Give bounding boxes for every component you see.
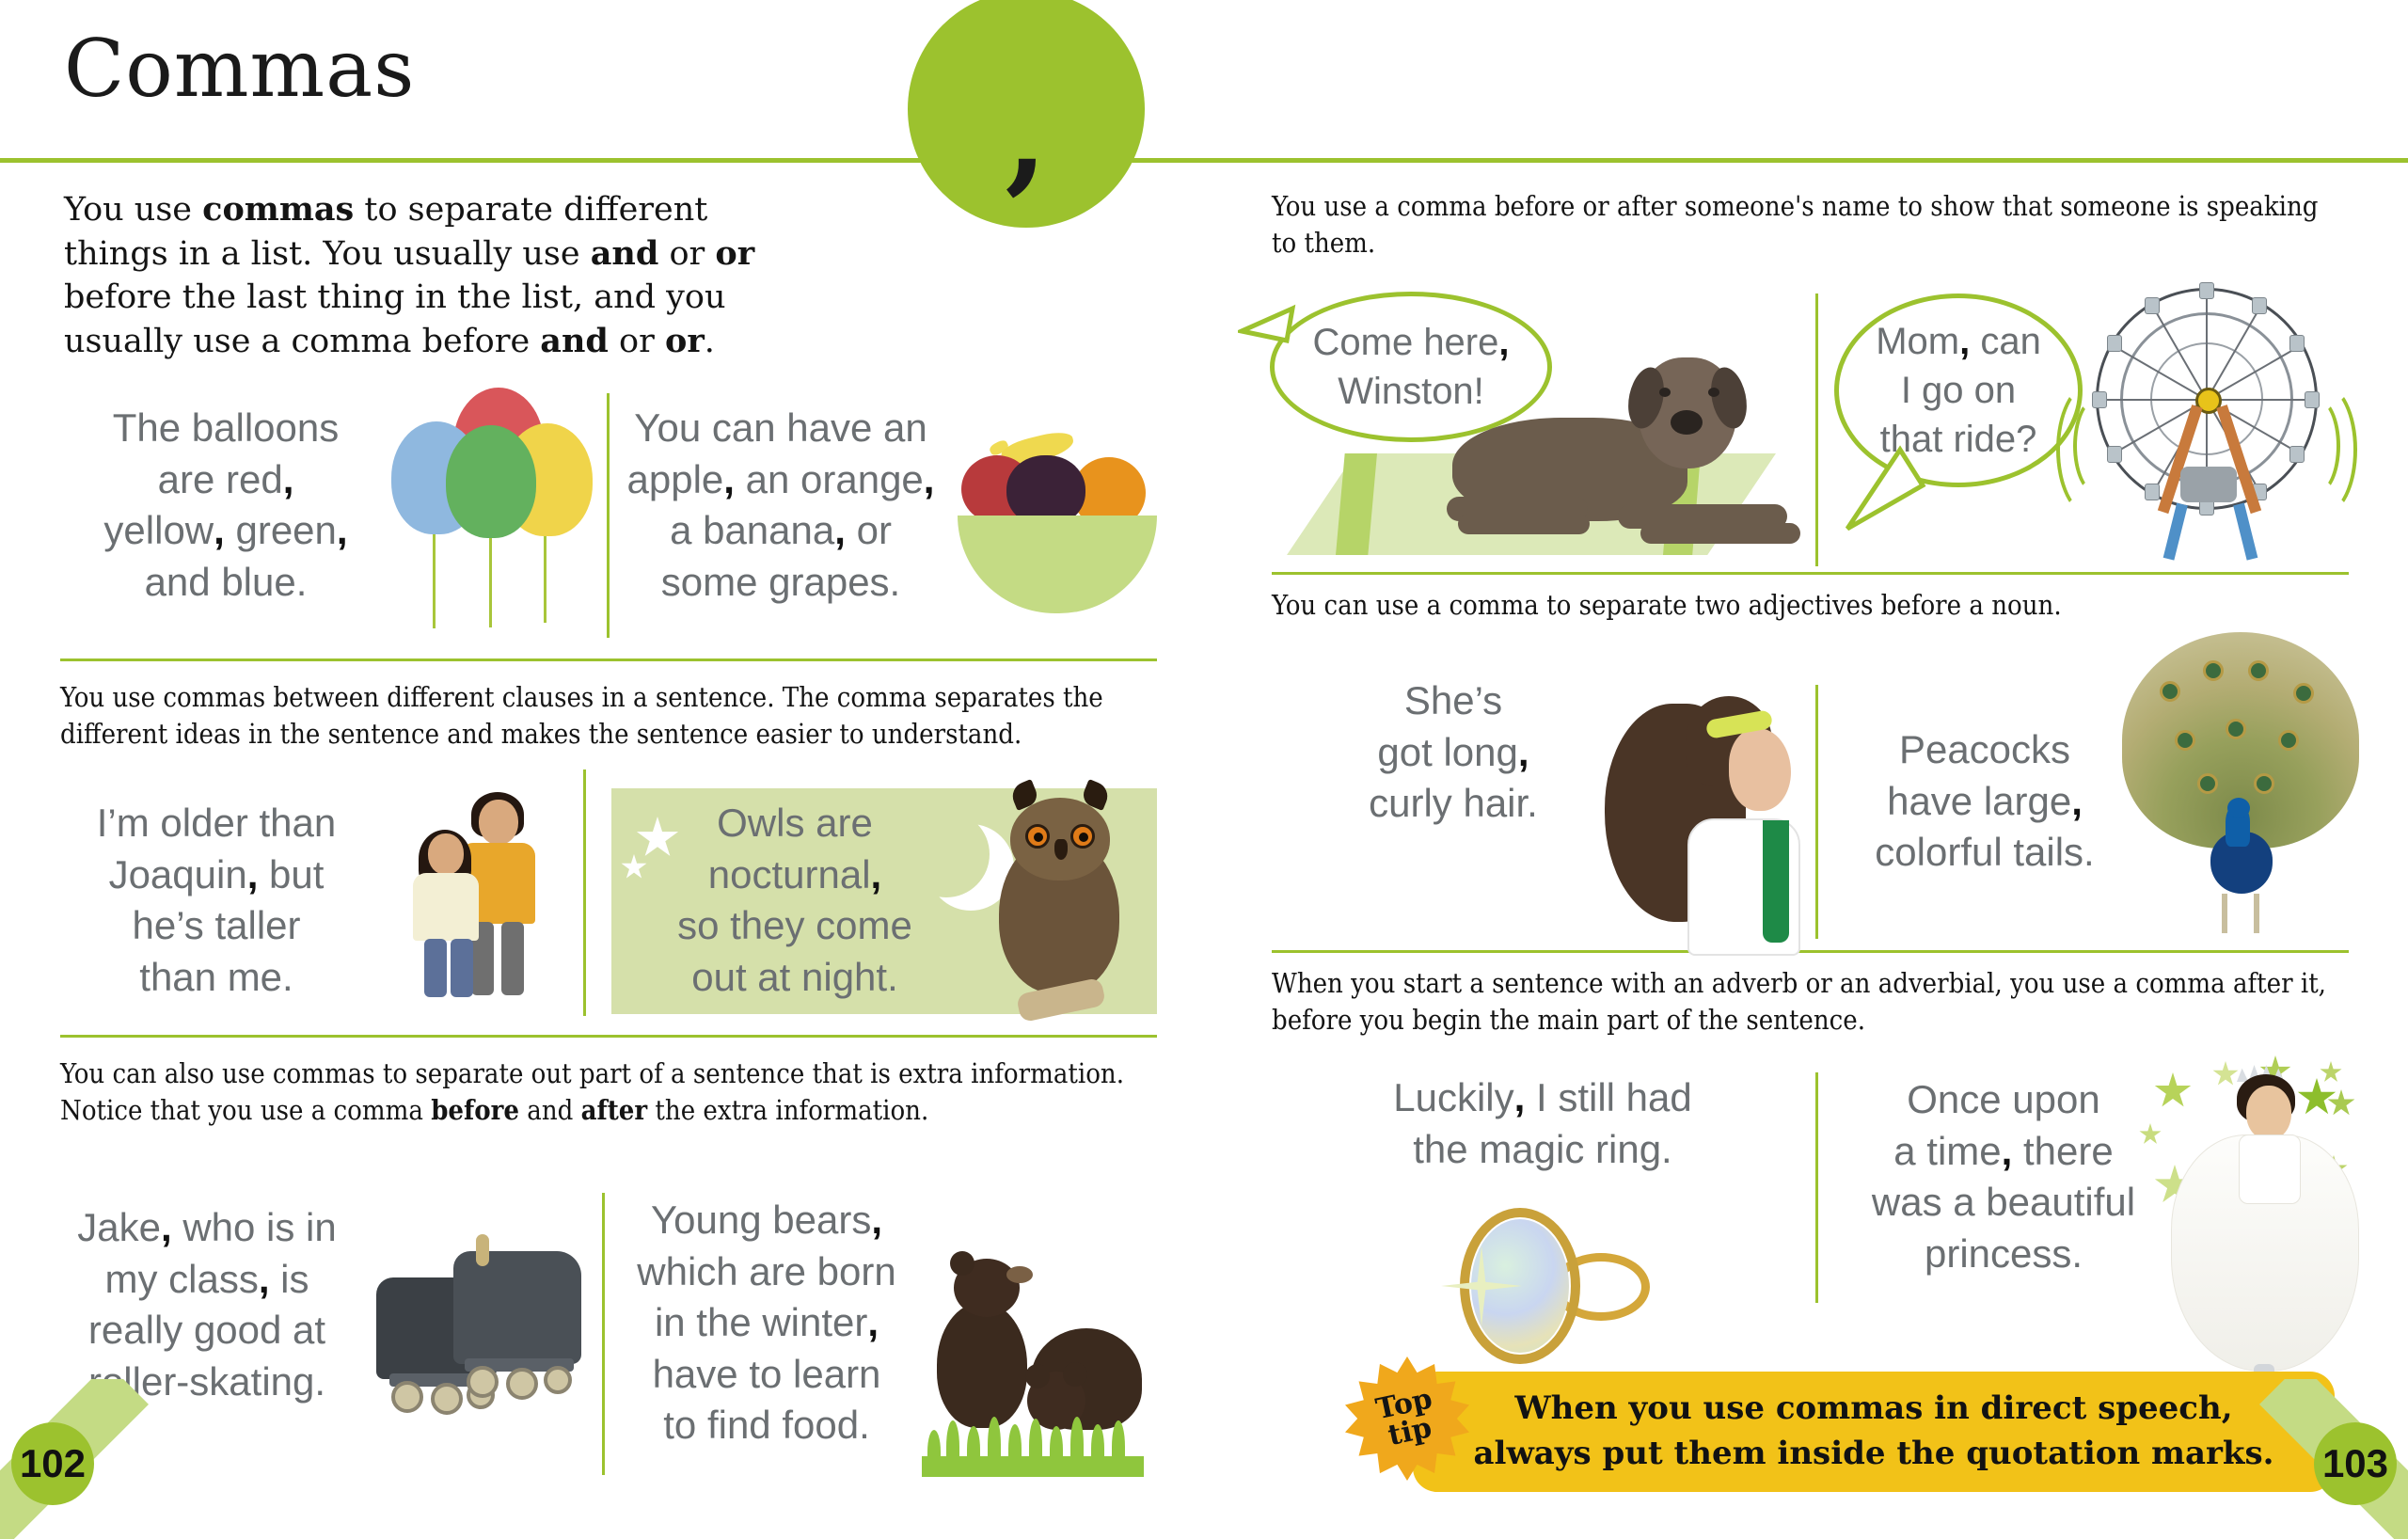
owl-photo <box>959 777 1157 1020</box>
peacock-photo <box>2116 632 2370 943</box>
divider-v-2 <box>583 769 586 1016</box>
page-number-left: 102 <box>0 1379 160 1539</box>
example-fruit-text: You can have anapple, an orange,a banana… <box>626 403 936 608</box>
example-ring-text: Luckily, I still hadthe magic ring. <box>1354 1072 1731 1175</box>
fruit-bowl-image <box>941 414 1176 630</box>
balloons-image <box>376 386 602 640</box>
example-owl-text: Owls arenocturnal,so they comeout at nig… <box>658 798 931 1003</box>
divider-v-4 <box>1815 294 1818 566</box>
comma-glyph: , <box>1005 104 1047 166</box>
curly-hair-girl-photo <box>1599 683 1844 956</box>
example-peacock-text: Peacockshave large,colorful tails. <box>1844 724 2126 879</box>
top-tip-line-1: When you use commas in direct speech, <box>1474 1387 2274 1432</box>
example-curlyhair-text: She’sgot long,curly hair. <box>1312 675 1594 830</box>
left-paragraph-3: You can also use commas to separate out … <box>60 1055 1157 1128</box>
example-kids-text: I’m older thanJoaquin, buthe’s tallertha… <box>75 798 357 1003</box>
page-number-left-value: 102 <box>11 1422 94 1505</box>
divider-h-1 <box>60 658 1157 661</box>
example-princess-text: Once upona time, therewas a beautifulpri… <box>1844 1074 2163 1279</box>
page-title: Commas <box>64 23 415 115</box>
ferris-wheel-photo <box>2079 282 2361 564</box>
divider-v-3 <box>602 1193 605 1475</box>
right-paragraph-3: When you start a sentence with an adverb… <box>1272 965 2335 1038</box>
dog-photo <box>1430 320 1806 564</box>
right-paragraph-1: You use a comma before or after someone'… <box>1272 188 2325 261</box>
example-jake-text: Jake, who is inmy class, isreally good a… <box>66 1202 348 1407</box>
top-tip-banner: When you use commas in direct speech, al… <box>1413 1372 2335 1492</box>
divider-h-2 <box>60 1035 1157 1038</box>
example-balloons-text: The balloonsare red,yellow, green,and bl… <box>85 403 367 608</box>
bear-cubs-image <box>922 1223 1157 1477</box>
page-number-right-value: 103 <box>2314 1422 2397 1505</box>
divider-h-3 <box>1272 572 2349 575</box>
roller-skates-image <box>367 1232 602 1468</box>
bubble-tail-dog <box>1238 303 1304 359</box>
comma-badge: , <box>908 0 1145 228</box>
left-paragraph-2: You use commas between different clauses… <box>60 679 1157 752</box>
magic-ring-image <box>1439 1195 1684 1383</box>
page-number-right: 103 <box>2248 1379 2408 1539</box>
top-tip-line-2: always put them inside the quotation mar… <box>1474 1432 2274 1477</box>
spread-page: Commas , You use commas to separate diff… <box>0 0 2408 1539</box>
divider-v-1 <box>607 393 610 638</box>
left-intro-paragraph: You use commas to separate different thi… <box>64 188 807 363</box>
two-kids-photo <box>381 790 578 1016</box>
bubble-tail-ferris <box>1842 442 1945 546</box>
header-rule <box>0 158 2408 163</box>
right-paragraph-2: You can use a comma to separate two adje… <box>1272 587 2118 624</box>
divider-v-6 <box>1815 1072 1818 1303</box>
example-bears-text: Young bears,which are bornin the winter,… <box>621 1195 912 1452</box>
